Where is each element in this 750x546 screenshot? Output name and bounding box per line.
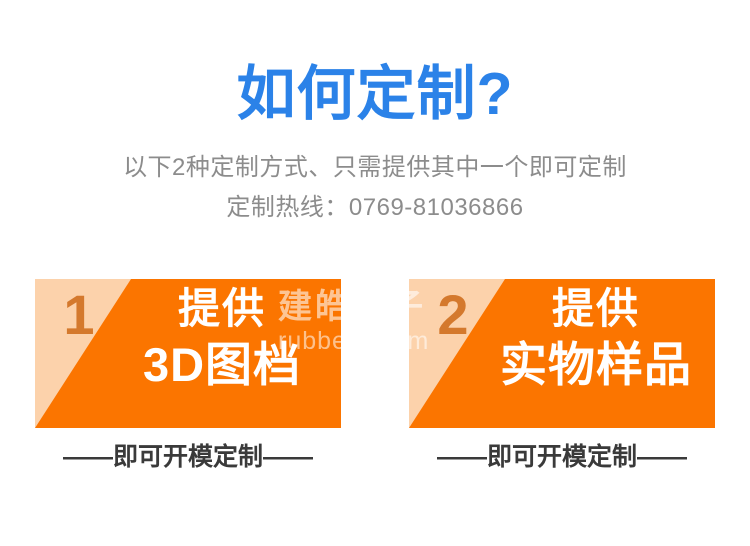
step-number-2: 2 xyxy=(421,283,485,347)
step-2-line-1: 提供 xyxy=(485,282,707,336)
step-number-1: 1 xyxy=(47,283,111,347)
steps-card-group: 1 提供 3D图档 2 提供 实物样品 xyxy=(0,279,750,428)
step-2-line-2: 实物样品 xyxy=(485,336,707,394)
customization-steps-banner: 如何定制? 以下2种定制方式、只需提供其中一个即可定制 定制热线：0769-81… xyxy=(0,0,750,546)
step-card-1: 1 提供 3D图档 xyxy=(35,279,341,428)
step-1-line-2: 3D图档 xyxy=(111,336,333,394)
step-text-1: 提供 3D图档 xyxy=(111,282,333,394)
caption-group: ——即可开模定制—— ——即可开模定制—— xyxy=(0,440,750,480)
step-card-2: 2 提供 实物样品 xyxy=(409,279,715,428)
subtitle-line-2-hotline: 定制热线：0769-81036866 xyxy=(0,185,750,225)
step-text-2: 提供 实物样品 xyxy=(485,282,707,394)
heading-block: 如何定制? 以下2种定制方式、只需提供其中一个即可定制 定制热线：0769-81… xyxy=(0,58,750,225)
step-2-caption: ——即可开模定制—— xyxy=(409,440,715,474)
page-title: 如何定制? xyxy=(0,58,750,130)
step-1-caption: ——即可开模定制—— xyxy=(35,440,341,474)
subtitle-line-1: 以下2种定制方式、只需提供其中一个即可定制 xyxy=(0,130,750,185)
step-1-line-1: 提供 xyxy=(111,282,333,336)
